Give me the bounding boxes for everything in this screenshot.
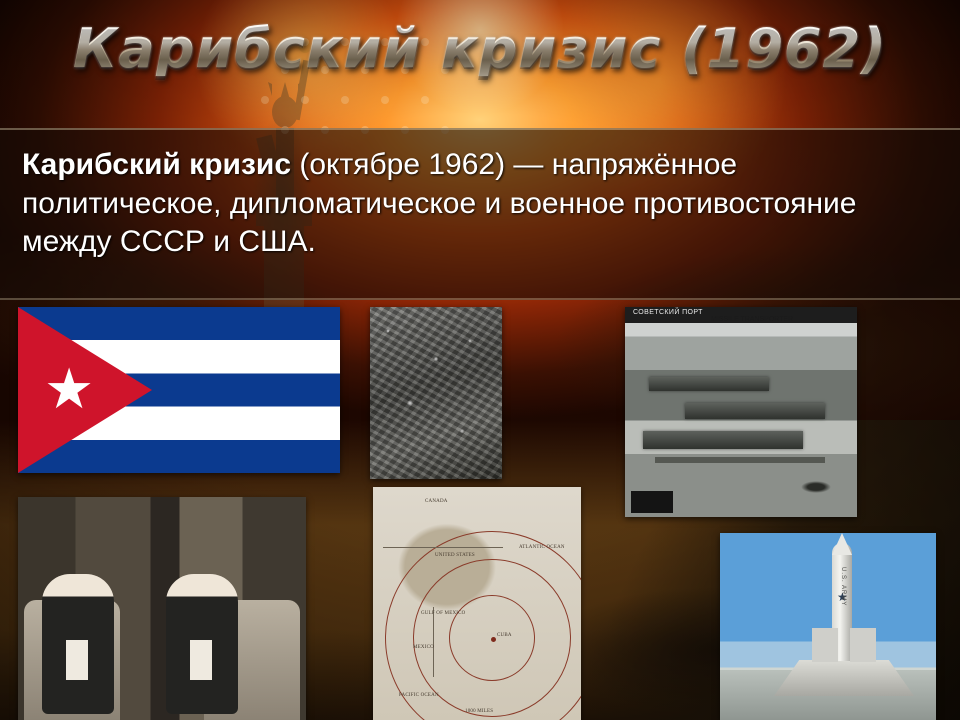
- port-photo-caption-box: [631, 491, 673, 513]
- map-label: ATLANTIC OCEAN: [519, 545, 565, 550]
- kk-shirt: [66, 640, 88, 680]
- title-area: Карибский кризис (1962): [0, 22, 960, 76]
- slide-body-lead: Карибский кризис: [22, 148, 291, 181]
- port-photo-ship: [685, 403, 825, 419]
- map-coastline: [383, 547, 503, 548]
- port-photo-ship: [649, 377, 769, 391]
- image-khrushchev-kennedy: [18, 497, 306, 720]
- missile-fin: [850, 628, 876, 662]
- map-label: CUBA: [497, 633, 512, 638]
- image-missile: ★ U.S. ARMY: [720, 533, 936, 720]
- port-photo-top-label: СОВЕТСКИЙ ПОРТ: [633, 309, 703, 316]
- slide-text-box: Карибский кризис (октябре 1962) — напряж…: [0, 128, 960, 300]
- map-label: MEXICO: [413, 645, 434, 650]
- port-photo-dock: [655, 457, 825, 463]
- slide: Карибский кризис (1962) Карибский кризис…: [0, 0, 960, 720]
- image-cuba-flag: ★: [18, 307, 340, 473]
- port-photo-ship: [643, 431, 803, 449]
- image-port-ships: СОВЕТСКИЙ ПОРТ MISSILE TRANSPORTER: [625, 307, 857, 517]
- port-photo-sub-label: MISSILE TRANSPORTER: [711, 316, 793, 323]
- slide-title: Карибский кризис (1962): [67, 22, 893, 76]
- missile-launcher: [774, 660, 914, 696]
- map-label: UNITED STATES: [435, 553, 475, 558]
- map-label: GULF OF MEXICO: [421, 611, 465, 616]
- missile-marking-text: U.S. ARMY: [840, 567, 846, 606]
- slide-body-text: Карибский кризис (октябре 1962) — напряж…: [22, 146, 936, 262]
- kk-shirt: [190, 640, 212, 680]
- cuba-flag-star-icon: ★: [44, 365, 94, 413]
- map-label: CANADA: [425, 499, 448, 504]
- missile-fin: [812, 628, 838, 662]
- map-scale-label: 1000 MILES: [465, 709, 493, 714]
- image-range-map: CANADA UNITED STATES ATLANTIC OCEAN GULF…: [373, 487, 581, 720]
- map-coastline: [433, 607, 434, 677]
- image-aerial-recon: [370, 307, 502, 479]
- map-label: PACIFIC OCEAN: [399, 693, 439, 698]
- port-photo-aircraft: [801, 481, 831, 493]
- map-cuba-marker: [491, 637, 496, 642]
